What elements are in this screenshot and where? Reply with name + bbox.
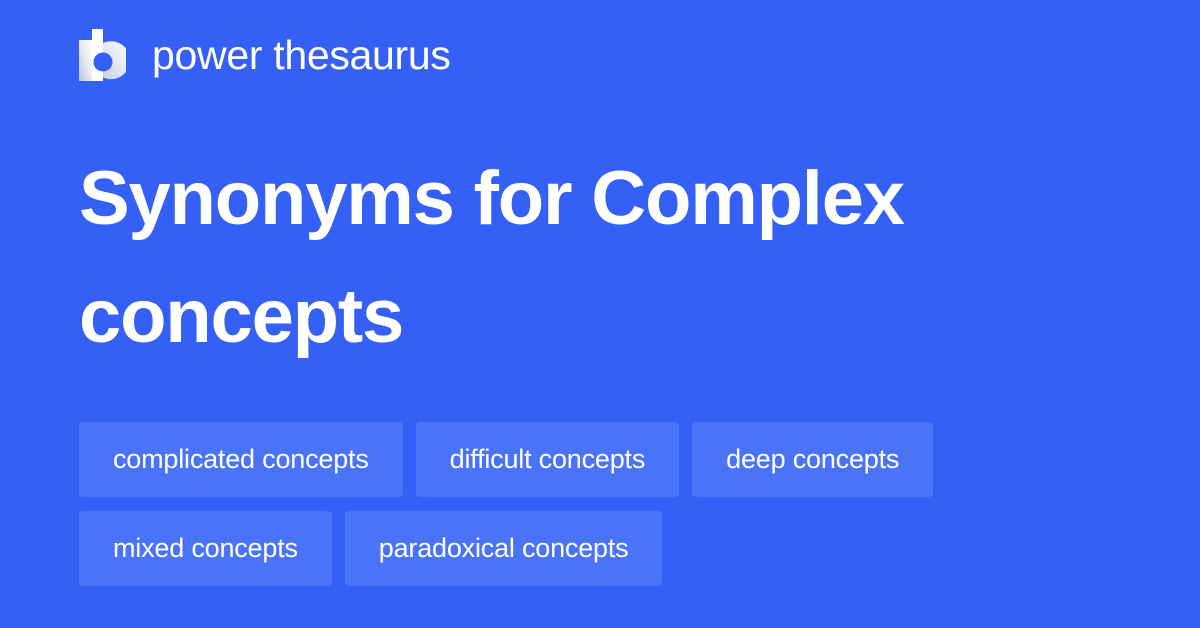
brand-name: power thesaurus <box>152 35 451 76</box>
synonym-tag-list: complicated concepts difficult concepts … <box>79 422 1139 586</box>
synonym-tag[interactable]: paradoxical concepts <box>345 511 663 586</box>
synonyms-share-card: power thesaurus Synonyms for Complex con… <box>0 0 1200 628</box>
brand-header[interactable]: power thesaurus <box>79 28 451 82</box>
power-thesaurus-b-logo-icon <box>79 29 126 81</box>
synonym-tag[interactable]: deep concepts <box>692 422 933 497</box>
synonym-tag[interactable]: mixed concepts <box>79 511 332 586</box>
synonym-tag[interactable]: complicated concepts <box>79 422 403 497</box>
synonym-tag[interactable]: difficult concepts <box>416 422 680 497</box>
page-title: Synonyms for Complex concepts <box>79 140 1079 376</box>
